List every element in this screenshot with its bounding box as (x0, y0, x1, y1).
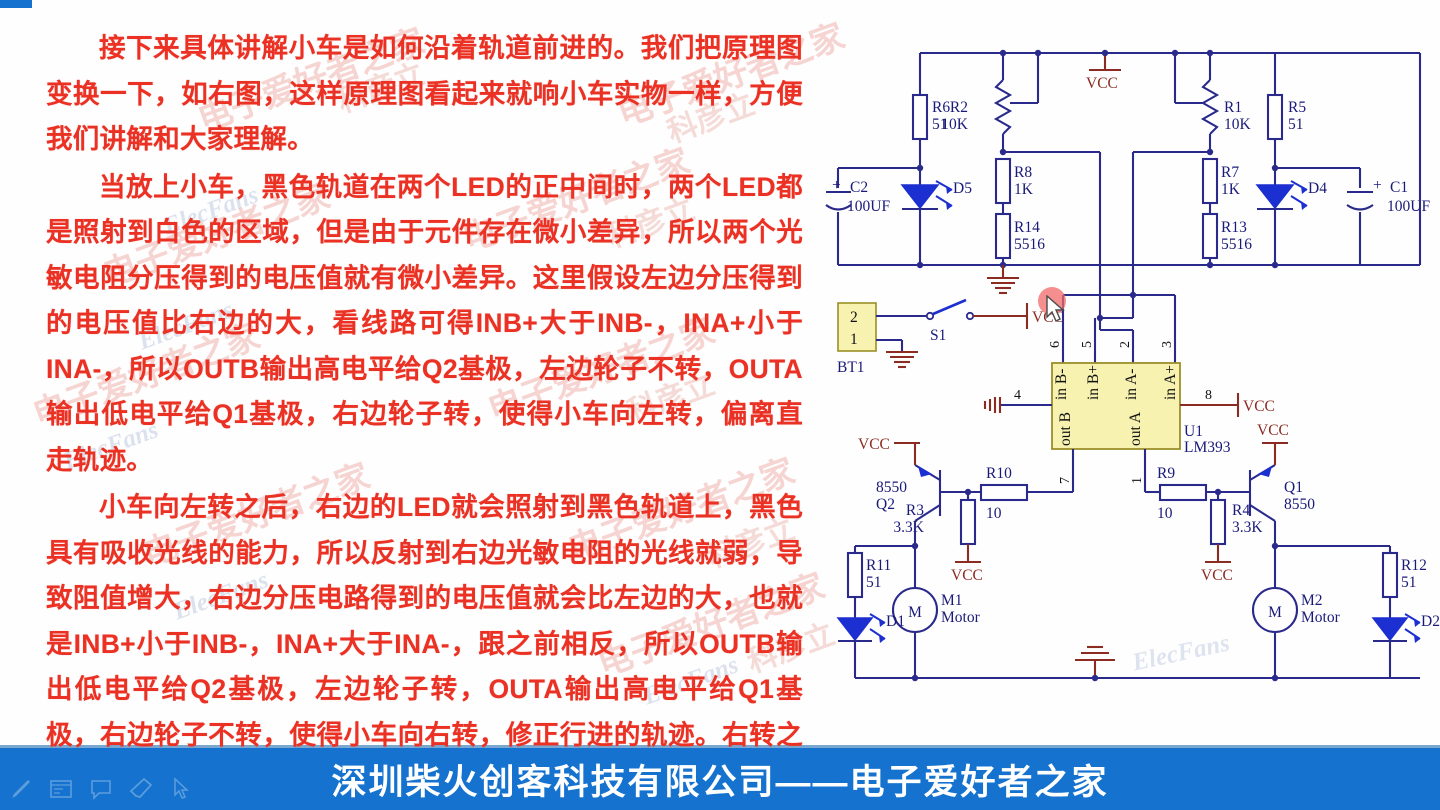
ground-symbol-center (1075, 647, 1115, 678)
ic-out-a: out A (1127, 411, 1144, 446)
r11-label: R11 (866, 557, 891, 574)
paragraph-1: 接下来具体讲解小车是如何沿着轨道前进的。我们把原理图变换一下，如右图，这样原理图… (46, 26, 803, 163)
switch-s1[interactable] (927, 300, 973, 319)
r1-value: 10K (1224, 116, 1252, 133)
circuit-schematic: .w { stroke:#2a2a8c; stroke-width:2.1; f… (820, 0, 1440, 745)
ic-in-a-plus: in A+ (1162, 365, 1179, 400)
led-d4 (1257, 181, 1307, 210)
r10-label: R10 (986, 465, 1012, 482)
battery-bt1: 2 1 BT1 (837, 303, 876, 376)
r2-label: R2 (950, 99, 968, 116)
r5-value: 51 (1288, 116, 1304, 133)
led-d5 (902, 181, 952, 210)
r12-label: R12 (1401, 557, 1427, 574)
ic-in-b-plus: in B+ (1085, 365, 1102, 400)
vcc-label-r4: VCC (1201, 567, 1233, 584)
lecture-text-panel: 接下来具体讲解小车是如何沿着轨道前进的。我们把原理图变换一下，如右图，这样原理图… (0, 0, 825, 745)
c1-polarity: + (1373, 177, 1382, 194)
q1-label: Q1 (1284, 479, 1303, 496)
r9-label: R9 (1157, 465, 1175, 482)
mouse-cursor (1045, 295, 1065, 328)
d4-label: D4 (1308, 180, 1327, 197)
m1-sub: Motor (941, 609, 981, 626)
ic-pin-6: 6 (1048, 341, 1063, 348)
m2-sub: Motor (1301, 609, 1341, 626)
paragraph-2: 当放上小车，黑色轨道在两个LED的正中间时，两个LED都是照射到白色的区域，但是… (46, 165, 803, 484)
bt1-pin1: 1 (850, 331, 858, 348)
r2-value: 10K (941, 116, 969, 133)
bt1-label: BT1 (837, 359, 865, 376)
led-d1 (838, 614, 885, 643)
vcc-label-top: VCC (1086, 75, 1118, 92)
r8-label: R8 (1014, 164, 1032, 181)
q2-label: Q2 (876, 496, 895, 513)
r9-value: 10 (1157, 505, 1173, 522)
slide-canvas: 电子爱好者之家 科彦立 ElecFans 电子爱好者之家 科彦立 电子爱好者之家… (0, 0, 1440, 810)
r7-value: 1K (1221, 181, 1241, 198)
comment-icon[interactable] (88, 776, 114, 802)
ic-pin-3: 3 (1160, 341, 1175, 348)
d5-label: D5 (953, 180, 972, 197)
ic-pin-4: 4 (1014, 388, 1021, 403)
ground-symbol-left (987, 265, 1019, 293)
d2-label: D2 (1421, 613, 1440, 630)
r6-label: R6 (932, 99, 950, 116)
c2-polarity: + (832, 177, 841, 194)
vcc-label-q2: VCC (858, 436, 890, 453)
q2-type: 8550 (876, 479, 907, 496)
r9-body (1160, 485, 1206, 500)
ic-pin-8: 8 (1205, 388, 1212, 403)
r11-value: 51 (866, 574, 882, 591)
ic-pin-2: 2 (1118, 341, 1133, 348)
vcc-label-q1: VCC (1257, 422, 1289, 439)
c2-label: C2 (850, 179, 868, 196)
vcc-label-r3: VCC (951, 567, 983, 584)
pen-icon[interactable] (8, 776, 34, 802)
r14-label: R14 (1014, 219, 1040, 236)
r13-label: R13 (1221, 219, 1247, 236)
r1-label: R1 (1224, 99, 1242, 116)
r12-value: 51 (1401, 574, 1417, 591)
r3-value: 3.3K (893, 519, 924, 536)
motor-m2: M (1253, 588, 1297, 632)
u1-type: LM393 (1184, 439, 1231, 456)
bottom-banner: 深圳柴火创客科技有限公司——电子爱好者之家 (0, 748, 1440, 810)
ic-pin-5: 5 (1080, 341, 1095, 348)
r5-label: R5 (1288, 99, 1306, 116)
pointer-icon[interactable] (168, 776, 194, 802)
banner-title: 深圳柴火创客科技有限公司——电子爱好者之家 (331, 754, 1108, 805)
r4-label: R4 (1232, 502, 1250, 519)
vcc-label-ic: VCC (1243, 398, 1275, 415)
annotation-toolbar[interactable] (8, 776, 194, 802)
ic-pin-1: 1 (1130, 477, 1145, 484)
r14-value: 5516 (1014, 236, 1045, 253)
ic-in-a-minus: in A- (1123, 369, 1140, 400)
q1-type: 8550 (1284, 496, 1315, 513)
u1-label: U1 (1184, 423, 1203, 440)
led-d2 (1373, 614, 1420, 643)
c1-value: 100UF (1387, 198, 1430, 215)
s1-label: S1 (930, 327, 946, 344)
r13-value: 5516 (1221, 236, 1252, 253)
m2-glyph: M (1268, 604, 1282, 621)
ground-symbol-ic (985, 397, 1000, 413)
r10-value: 10 (986, 505, 1002, 522)
bt1-pin2: 2 (850, 309, 858, 326)
c1-label: C1 (1390, 179, 1408, 196)
r8-value: 1K (1014, 181, 1034, 198)
c2-value: 100UF (847, 198, 890, 215)
ic-out-b: out B (1057, 412, 1074, 446)
m2-label: M2 (1301, 592, 1323, 609)
m1-glyph: M (908, 604, 922, 621)
r7-label: R7 (1221, 164, 1239, 181)
ground-symbol-battery (886, 352, 918, 367)
m1-label: M1 (941, 592, 963, 609)
eraser-icon[interactable] (128, 776, 154, 802)
ic-in-b-minus: in B- (1053, 369, 1070, 400)
d1-label: D1 (886, 613, 905, 630)
r4-value: 3.3K (1232, 519, 1263, 536)
r10-body (981, 485, 1027, 500)
panel-icon[interactable] (48, 776, 74, 802)
ic-pin-7: 7 (1058, 477, 1073, 484)
